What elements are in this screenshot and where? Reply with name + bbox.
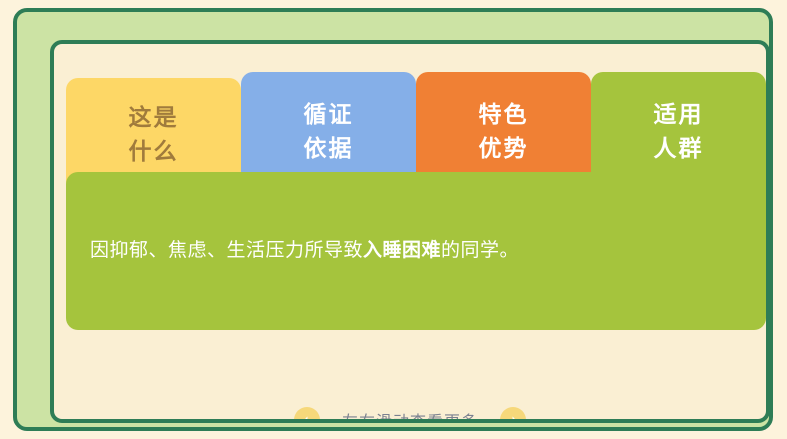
- tab-content-text: 因抑郁、焦虑、生活压力所导致入睡困难的同学。: [66, 236, 543, 266]
- tab-features-advantages-line2: 优势: [479, 137, 529, 160]
- swipe-hint-bar: 左右滑动查看更多: [54, 392, 766, 423]
- tab-target-audience-line1: 适用: [654, 103, 704, 126]
- inner-card-frame: 这是 什么 循证 依据 特色 优势 适用 人群 因抑郁、焦虑、生活: [50, 40, 770, 423]
- tab-evidence-basis-line2: 依据: [304, 137, 354, 160]
- tab-evidence-basis-line1: 循证: [304, 103, 354, 126]
- screen: 这是 什么 循证 依据 特色 优势 适用 人群 因抑郁、焦虑、生活: [0, 0, 787, 439]
- content-text-highlight: 入睡困难: [363, 240, 441, 261]
- arrow-right-circle-icon[interactable]: [500, 407, 526, 423]
- tab-what-is-this-line1: 这是: [129, 106, 179, 129]
- outer-card-frame: 这是 什么 循证 依据 特色 优势 适用 人群 因抑郁、焦虑、生活: [13, 8, 773, 431]
- tab-strip: 这是 什么 循证 依据 特色 优势 适用 人群: [66, 60, 766, 190]
- content-text-suffix: 的同学。: [441, 240, 519, 261]
- tab-target-audience-line2: 人群: [654, 137, 704, 160]
- tab-what-is-this-line2: 什么: [129, 140, 179, 163]
- tab-content-panel: 因抑郁、焦虑、生活压力所导致入睡困难的同学。: [66, 172, 766, 330]
- arrow-left-circle-icon[interactable]: [294, 407, 320, 423]
- content-text-prefix: 因抑郁、焦虑、生活压力所导致: [90, 240, 363, 261]
- tab-features-advantages-line1: 特色: [479, 103, 529, 126]
- swipe-hint-label: 左右滑动查看更多: [342, 408, 478, 423]
